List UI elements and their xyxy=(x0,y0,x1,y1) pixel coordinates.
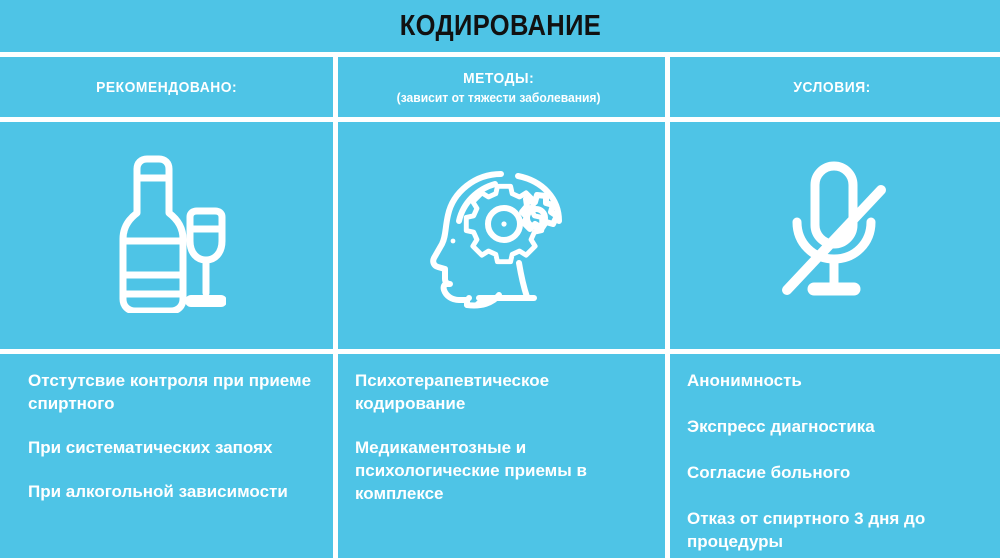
list-item: Анонимность xyxy=(687,370,982,393)
column-header-recommended: РЕКОМЕНДОВАНО: xyxy=(0,57,333,117)
column-header-title: УСЛОВИЯ: xyxy=(794,79,871,96)
wine-bottle-and-glass-icon xyxy=(108,153,226,318)
list-item: Психотерапевтическое кодирование xyxy=(355,370,647,416)
infographic-root: КОДИРОВАНИЕ РЕКОМЕНДОВАНО: МЕТОДЫ: (зави… xyxy=(0,0,1000,558)
icon-cell-conditions xyxy=(665,122,1000,349)
list-item: Согласие больного xyxy=(687,462,982,485)
list-item: При систематических запоях xyxy=(28,437,315,460)
column-header-title: РЕКОМЕНДОВАНО: xyxy=(96,79,237,96)
title-band: КОДИРОВАНИЕ xyxy=(0,0,1000,52)
text-cell-conditions: Анонимность Экспресс диагностика Согласи… xyxy=(665,354,1000,558)
list-item: Отстутсвие контроля при приеме спиртного xyxy=(28,370,315,416)
column-header-conditions: УСЛОВИЯ: xyxy=(665,57,1000,117)
muted-microphone-icon xyxy=(777,158,889,313)
icon-row xyxy=(0,122,1000,349)
list-item: Отказ от спиртного 3 дня до процедуры xyxy=(687,508,982,554)
list-item: Медикаментозные и психологические приемы… xyxy=(355,437,647,506)
list-item: Экспресс диагностика xyxy=(687,416,982,439)
column-header-subtitle: (зависит от тяжести заболевания) xyxy=(397,90,601,105)
header-row: РЕКОМЕНДОВАНО: МЕТОДЫ: (зависит от тяжес… xyxy=(0,57,1000,117)
head-with-gears-icon xyxy=(423,157,575,314)
text-row: Отстутсвие контроля при приеме спиртного… xyxy=(0,354,1000,558)
icon-cell-methods xyxy=(333,122,665,349)
text-cell-methods: Психотерапевтическое кодирование Медикам… xyxy=(333,354,665,558)
text-cell-recommended: Отстутсвие контроля при приеме спиртного… xyxy=(0,354,333,558)
list-item: При алкогольной зависимости xyxy=(28,481,315,504)
icon-cell-recommended xyxy=(0,122,333,349)
column-header-title: МЕТОДЫ: xyxy=(463,70,534,87)
column-header-methods: МЕТОДЫ: (зависит от тяжести заболевания) xyxy=(333,57,665,117)
page-title: КОДИРОВАНИЕ xyxy=(399,10,600,43)
